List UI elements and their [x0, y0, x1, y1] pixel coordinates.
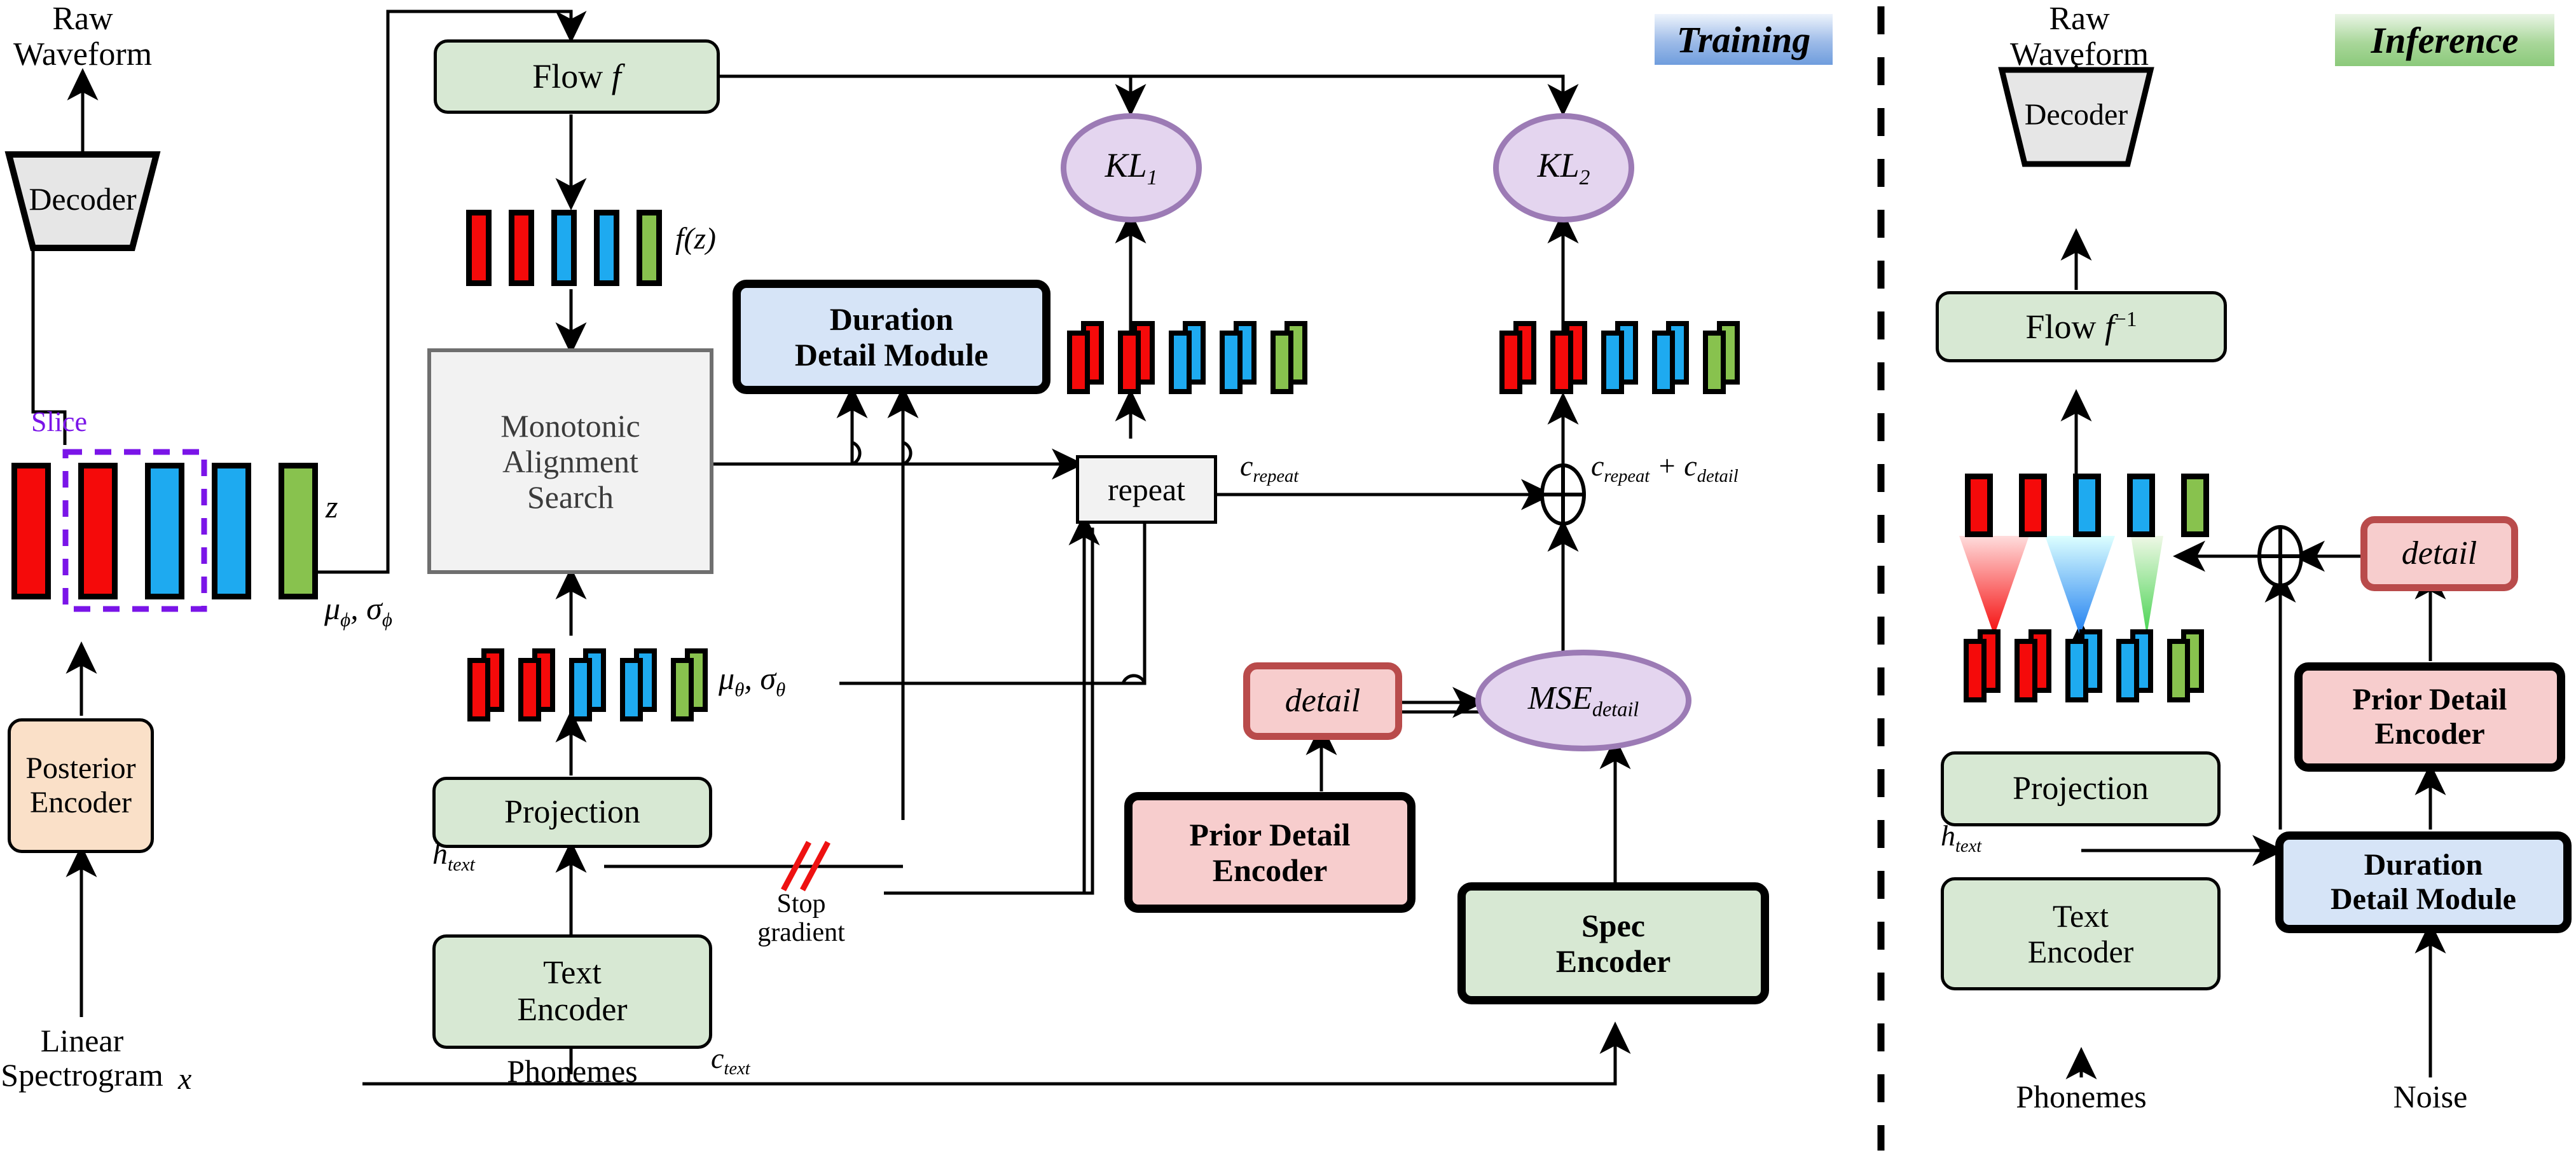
- monotonic-alignment-search-block[interactable]: Monotonic Alignment Search: [427, 348, 713, 574]
- kl1-bar-3a: [1169, 331, 1192, 394]
- duration-detail-module-block[interactable]: Duration Detail Module: [733, 280, 1050, 394]
- c-repeat-plus-c-detail-label: crepeat + cdetail: [1591, 450, 1739, 487]
- inference-bar-5: [2181, 474, 2209, 537]
- fz-bar-2: [509, 210, 534, 286]
- latent-bar-2: [78, 463, 118, 599]
- kl2-bar-3a: [1601, 331, 1624, 394]
- kl2-bar-4a: [1652, 331, 1675, 394]
- kl2-bar-5a: [1703, 331, 1726, 394]
- kl1-bar-2a: [1118, 331, 1141, 394]
- inference-bar-2: [2019, 474, 2047, 537]
- linear-spectrogram-label: Linear Spectrogram: [0, 1023, 164, 1092]
- inference-raw-waveform-label: Raw Waveform: [1987, 1, 2172, 72]
- latent-bar-1: [11, 463, 51, 599]
- prior-detail-encoder-block-training[interactable]: Prior Detail Encoder: [1124, 792, 1415, 913]
- training-badge: Training: [1655, 14, 1833, 65]
- prior-stat-bar-3a: [569, 658, 592, 721]
- fz-bar-1: [466, 210, 492, 286]
- inference-pair-bar-3a: [2065, 639, 2088, 702]
- c-repeat-label: crepeat: [1240, 450, 1298, 487]
- c-text-label: ctext: [711, 1042, 750, 1079]
- inference-badge: Inference: [2335, 14, 2554, 66]
- latent-bar-5: [279, 463, 318, 599]
- flow-block[interactable]: Flow f: [434, 39, 720, 114]
- fz-label: f(z): [675, 222, 716, 256]
- prior-stat-bar-5a: [671, 658, 694, 721]
- training-phonemes-label: Phonemes: [445, 1054, 699, 1088]
- inference-decoder-label: Decoder: [2019, 99, 2133, 132]
- text-encoder-block[interactable]: Text Encoder: [432, 934, 712, 1049]
- kl2-loss-node: KL2: [1493, 113, 1634, 222]
- inference-bar-3: [2073, 474, 2101, 537]
- inference-bar-4: [2127, 474, 2155, 537]
- spec-encoder-block[interactable]: Spec Encoder: [1457, 882, 1769, 1004]
- noise-label: Noise: [2335, 1079, 2526, 1114]
- inference-text-encoder-block[interactable]: Text Encoder: [1941, 877, 2221, 990]
- figure-canvas: Raw Waveform Decoder Slice z μϕ, σϕ Post…: [0, 0, 2576, 1155]
- kl1-bar-5a: [1271, 331, 1293, 394]
- kl2-bar-2a: [1550, 331, 1573, 394]
- training-decoder-label: Decoder: [25, 182, 140, 216]
- inference-pair-bar-4a: [2116, 639, 2139, 702]
- kl1-bar-4a: [1220, 331, 1243, 394]
- detail-block-training[interactable]: detail: [1243, 662, 1402, 740]
- mu-sigma-phi-label: μϕ, σϕ: [324, 591, 392, 630]
- detail-block-inference[interactable]: detail: [2360, 516, 2518, 591]
- fz-bar-4: [594, 210, 619, 286]
- stop-gradient-label: Stop gradient: [738, 890, 865, 948]
- inference-pair-bar-5a: [2167, 639, 2190, 702]
- fz-bar-3: [551, 210, 577, 286]
- posterior-encoder-block[interactable]: Posterior Encoder: [8, 718, 154, 853]
- latent-bar-4: [212, 463, 251, 599]
- fz-bar-5: [637, 210, 662, 286]
- inference-pair-bar-1a: [1964, 639, 1987, 702]
- inference-h-text-label: htext: [1941, 820, 1981, 857]
- inference-duration-detail-module-block[interactable]: Duration Detail Module: [2275, 831, 2572, 933]
- mu-sigma-theta-label: μθ, σθ: [719, 661, 785, 700]
- kl1-loss-node: KL1: [1061, 113, 1202, 222]
- h-text-label: htext: [432, 838, 475, 875]
- training-raw-waveform-label: Raw Waveform: [0, 1, 165, 72]
- kl2-bar-1a: [1499, 331, 1522, 394]
- latent-bar-3: [145, 463, 184, 599]
- inference-bar-1: [1965, 474, 1993, 537]
- flow-inverse-block[interactable]: Flow f−1: [1936, 291, 2227, 362]
- slice-label: Slice: [11, 407, 107, 437]
- z-label: z: [326, 489, 338, 524]
- mse-detail-loss-node: MSEdetail: [1475, 650, 1691, 751]
- prior-stat-bar-1a: [467, 658, 490, 721]
- inference-pair-bar-2a: [2015, 639, 2037, 702]
- x-label: x: [178, 1063, 191, 1096]
- inference-phonemes-label: Phonemes: [1954, 1079, 2208, 1114]
- kl1-bar-1a: [1067, 331, 1090, 394]
- inference-projection-block[interactable]: Projection: [1941, 751, 2221, 826]
- prior-stat-bar-2a: [518, 658, 541, 721]
- prior-stat-bar-4a: [620, 658, 643, 721]
- inference-prior-detail-encoder-block[interactable]: Prior Detail Encoder: [2294, 662, 2565, 772]
- repeat-block[interactable]: repeat: [1076, 455, 1217, 524]
